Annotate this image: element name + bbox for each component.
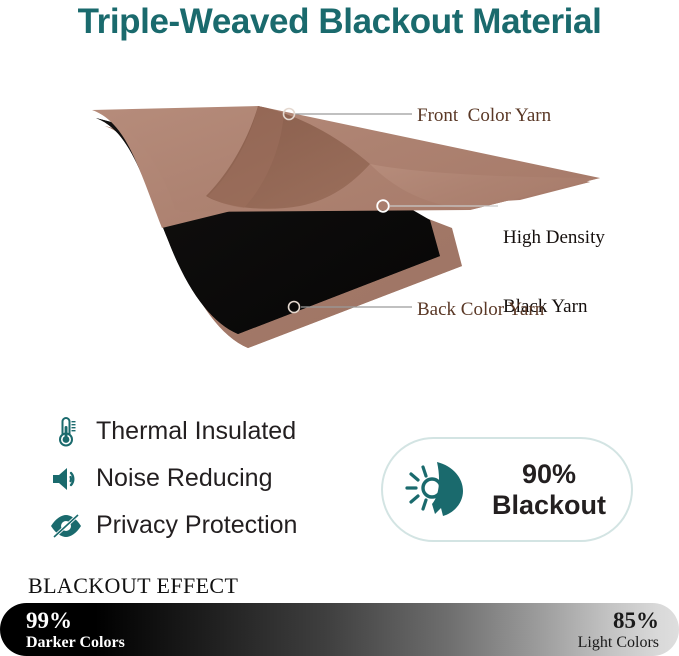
callout-label-front: Front Color Yarn bbox=[417, 104, 551, 127]
light-percent: 85% bbox=[578, 609, 659, 633]
callout-label-back: Back Color Yarn bbox=[417, 298, 544, 321]
blackout-badge-caption: Blackout bbox=[475, 490, 623, 521]
callout-label-middle-line1: High Density bbox=[503, 226, 605, 249]
feature-item-privacy-protection: Privacy Protection bbox=[46, 502, 376, 549]
blackout-badge: 90% Blackout bbox=[381, 437, 633, 542]
page-title: Triple-Weaved Blackout Material bbox=[0, 2, 679, 42]
blackout-effect-gradient-bar: 99% Darker Colors 85% Light Colors bbox=[0, 603, 679, 656]
blackout-effect-darker: 99% Darker Colors bbox=[26, 609, 125, 652]
blackout-badge-text: 90% Blackout bbox=[475, 459, 631, 521]
blackout-effect-heading: BLACKOUT EFFECT bbox=[28, 573, 238, 599]
feature-label-privacy-protection: Privacy Protection bbox=[96, 511, 297, 540]
blackout-badge-percent: 90% bbox=[475, 459, 623, 490]
feature-list: Thermal Insulated Noise Reducing Privacy… bbox=[46, 408, 376, 549]
thermometer-icon bbox=[46, 413, 86, 451]
feature-item-noise-reducing: Noise Reducing bbox=[46, 455, 376, 502]
eye-off-icon bbox=[46, 507, 86, 545]
feature-label-noise-reducing: Noise Reducing bbox=[96, 464, 273, 493]
speaker-sound-icon bbox=[46, 460, 86, 498]
blackout-effect-light: 85% Light Colors bbox=[578, 609, 659, 652]
light-caption: Light Colors bbox=[578, 633, 659, 652]
feature-item-thermal-insulated: Thermal Insulated bbox=[46, 408, 376, 455]
darker-caption: Darker Colors bbox=[26, 633, 125, 652]
darker-percent: 99% bbox=[26, 609, 125, 633]
sun-behind-curtain-icon bbox=[397, 455, 475, 525]
feature-label-thermal-insulated: Thermal Insulated bbox=[96, 417, 296, 446]
